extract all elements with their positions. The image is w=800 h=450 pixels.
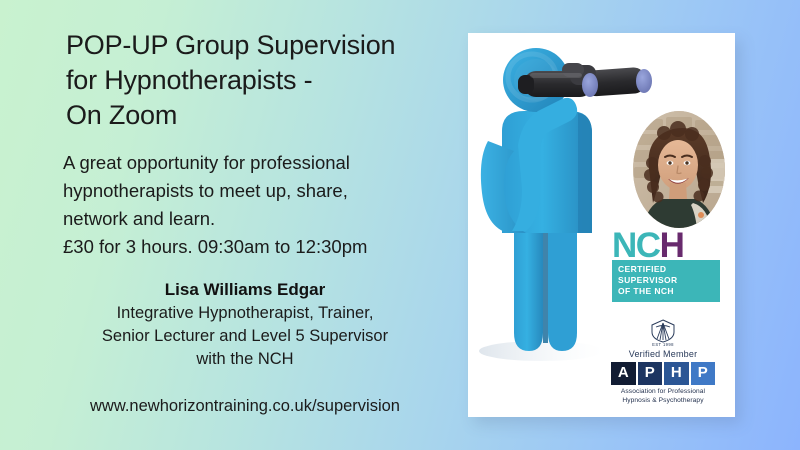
website-url[interactable]: www.newhorizontraining.co.uk/supervision <box>63 397 441 416</box>
aphp-letter-a: A <box>611 362 636 385</box>
aphp-letter-p2: P <box>691 362 716 385</box>
nch-letter-h: H <box>660 226 684 265</box>
presenter-credentials: Integrative Hypnotherapist, Trainer, Sen… <box>63 302 427 371</box>
presenter-photo <box>633 111 725 228</box>
aphp-letter-blocks: A P H P <box>611 362 715 385</box>
event-description: A great opportunity for professional hyp… <box>63 149 441 261</box>
nch-letter-n: N <box>612 226 636 265</box>
aphp-badge: EST 1998 Verified Member A P H P Associa… <box>611 318 715 405</box>
presenter-block: Lisa Williams Edgar Integrative Hypnothe… <box>63 278 441 371</box>
nch-letter-c: C <box>636 226 660 265</box>
nch-logo-mark: NCH <box>612 229 720 263</box>
aphp-verified-label: Verified Member <box>611 349 715 359</box>
aphp-crest-icon <box>611 318 715 344</box>
aphp-letter-h: H <box>664 362 689 385</box>
nch-badge-caption: CERTIFIED SUPERVISOR OF THE NCH <box>612 260 720 302</box>
aphp-association-name: Association for Professional Hypnosis & … <box>611 388 715 405</box>
aphp-letter-p: P <box>638 362 663 385</box>
page-title: POP-UP Group Supervision for Hypnotherap… <box>63 28 441 133</box>
text-column: POP-UP Group Supervision for Hypnotherap… <box>0 0 455 450</box>
image-panel: NCH CERTIFIED SUPERVISOR OF THE NCH EST … <box>468 33 735 417</box>
aphp-established-year: EST 1998 <box>611 342 715 347</box>
nch-badge: NCH CERTIFIED SUPERVISOR OF THE NCH <box>612 229 720 302</box>
portrait-image <box>633 111 725 228</box>
presenter-name: Lisa Williams Edgar <box>63 278 427 302</box>
